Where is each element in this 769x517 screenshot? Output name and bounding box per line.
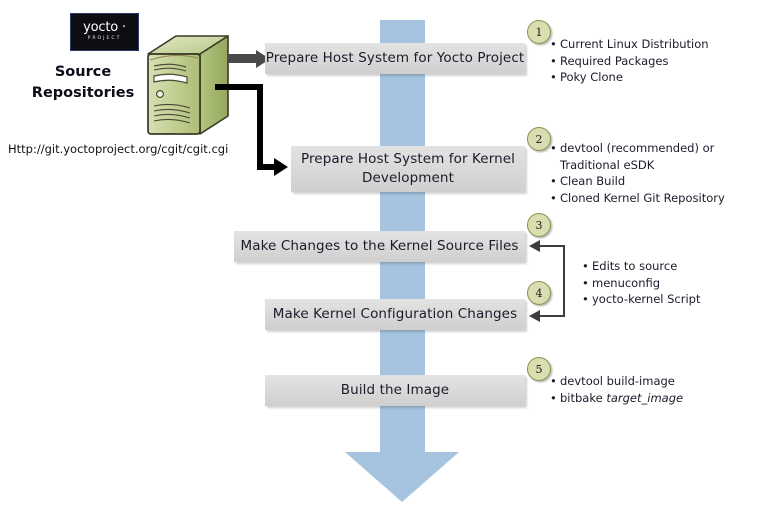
step-5-notes: • devtool build-image • bitbake target_i… — [550, 373, 750, 406]
step-number-2: 2 — [527, 127, 551, 151]
arrowhead-bracket-to-step3 — [529, 240, 540, 252]
list-item: • devtool build-image — [550, 373, 750, 390]
source-label-line1: Source — [28, 62, 138, 83]
bullet-dot: • — [550, 69, 560, 86]
connector-server-to-step2-vertical — [257, 84, 263, 170]
server-tower-icon — [140, 32, 232, 148]
step-box-3[interactable]: Make Changes to the Kernel Source Files — [234, 231, 525, 262]
list-item: • bitbake target_image — [550, 390, 750, 407]
list-item: • yocto-kernel Script — [582, 291, 757, 308]
bullet-dot: • — [582, 291, 592, 308]
list-item-label: Clean Build — [560, 173, 725, 190]
list-item: • Poky Clone — [550, 69, 755, 86]
bullet-dot: • — [550, 390, 560, 407]
step-box-1-label: Prepare Host System for Yocto Project — [266, 49, 525, 68]
steps-3-4-shared-notes: • Edits to source • menuconfig • yocto-k… — [582, 258, 757, 308]
step-number-5: 5 — [527, 357, 551, 381]
list-item: • Required Packages — [550, 53, 755, 70]
bullet-dot: • — [550, 140, 560, 157]
list-item-label: menuconfig — [592, 275, 757, 292]
list-item: • devtool (recommended) or Traditional e… — [550, 140, 725, 173]
list-item-label: Current Linux Distribution — [560, 36, 755, 53]
connector-server-to-step2-horizontal-top — [215, 84, 263, 90]
step-number-3: 3 — [527, 213, 551, 237]
step-box-5-label: Build the Image — [341, 381, 449, 400]
step-box-5[interactable]: Build the Image — [265, 375, 525, 406]
bracket-horizontal-to-step3 — [540, 245, 564, 247]
step-2-notes: • devtool (recommended) or Traditional e… — [550, 140, 725, 206]
step-1-notes: • Current Linux Distribution • Required … — [550, 36, 755, 86]
bullet-dot: • — [582, 275, 592, 292]
bullet-dot: • — [582, 258, 592, 275]
source-repositories-label: Source Repositories — [28, 62, 138, 104]
yocto-logo-subtext: PROJECT — [88, 35, 122, 43]
bullet-dot: • — [550, 173, 560, 190]
step-box-2-label-line1: Prepare Host System for Kernel — [301, 150, 515, 169]
step-box-4-label: Make Kernel Configuration Changes — [273, 305, 517, 324]
bullet-dot: • — [550, 36, 560, 53]
bullet-dot: • — [550, 373, 560, 390]
step-box-4[interactable]: Make Kernel Configuration Changes — [265, 299, 525, 330]
list-item-label: Edits to source — [592, 258, 757, 275]
flow-arrow-head — [345, 452, 459, 502]
step-box-2[interactable]: Prepare Host System for Kernel Developme… — [291, 146, 525, 192]
list-item-label: Poky Clone — [560, 69, 755, 86]
step-box-1[interactable]: Prepare Host System for Yocto Project — [265, 43, 525, 74]
list-item-label: yocto-kernel Script — [592, 291, 757, 308]
list-item: • Current Linux Distribution — [550, 36, 755, 53]
list-item-label: Required Packages — [560, 53, 755, 70]
source-label-line2: Repositories — [28, 83, 138, 104]
list-item: • Edits to source — [582, 258, 757, 275]
list-item-label-bitbake: bitbake target_image — [560, 390, 750, 407]
step-number-4: 4 — [527, 281, 551, 305]
list-item: • Cloned Kernel Git Repository — [550, 190, 725, 207]
step-box-2-label-line2: Development — [362, 169, 454, 188]
bracket-horizontal-to-step4 — [540, 315, 564, 317]
list-item: • Clean Build — [550, 173, 725, 190]
bracket-vertical-steps-3-4 — [563, 245, 565, 317]
yocto-logo-wordmark: yocto · — [83, 21, 126, 34]
list-item-label: devtool (recommended) or Traditional eSD… — [560, 140, 725, 173]
list-item-label: Cloned Kernel Git Repository — [560, 190, 725, 207]
diagram-canvas: yocto · PROJECT Source Repositories Http… — [0, 0, 769, 517]
arrowhead-server-to-step2 — [274, 158, 288, 176]
list-item: • menuconfig — [582, 275, 757, 292]
bullet-dot: • — [550, 53, 560, 70]
bitbake-target-placeholder: target_image — [606, 391, 683, 405]
bullet-dot: • — [550, 190, 560, 207]
yocto-project-logo: yocto · PROJECT — [70, 13, 139, 51]
list-item-label: devtool build-image — [560, 373, 750, 390]
step-number-1: 1 — [527, 20, 551, 44]
bitbake-command: bitbake — [560, 391, 606, 405]
arrowhead-bracket-to-step4 — [529, 310, 540, 322]
step-box-3-label: Make Changes to the Kernel Source Files — [240, 237, 518, 256]
